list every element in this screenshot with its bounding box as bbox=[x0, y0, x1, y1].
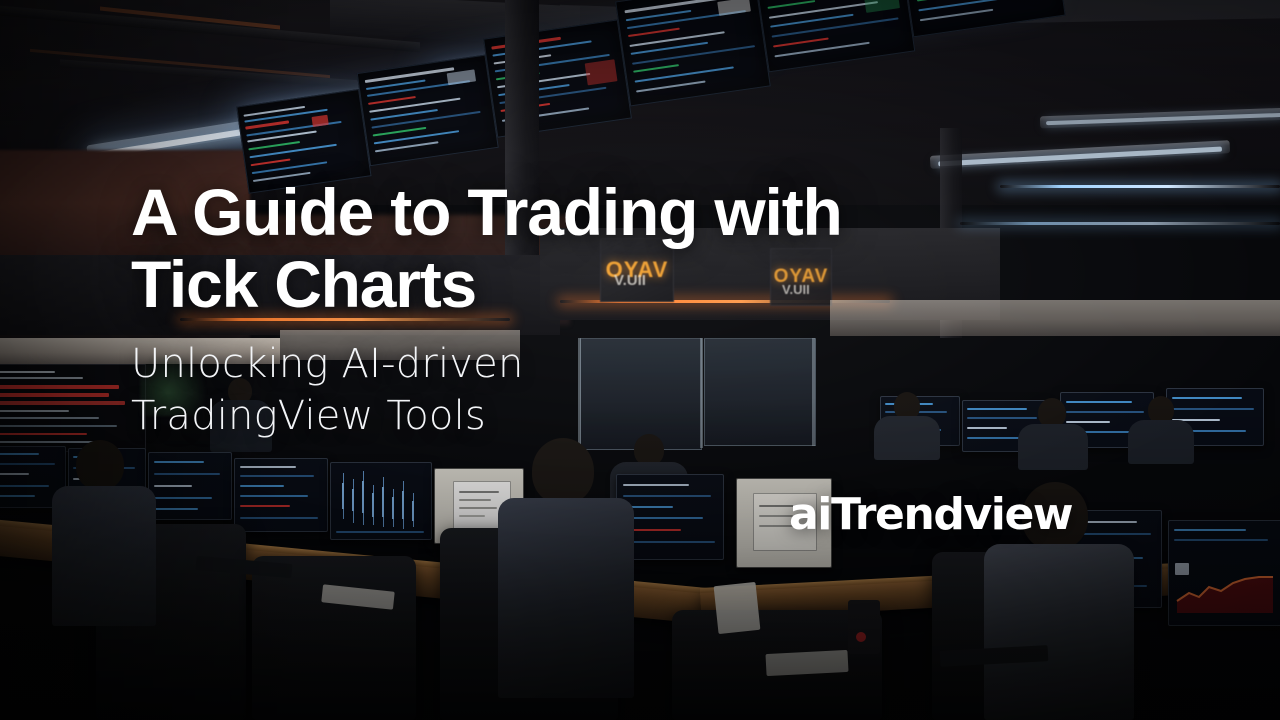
subhead-line-2: TradingView Tools bbox=[131, 390, 751, 442]
subhead-line-1: Unlocking AI-driven bbox=[131, 338, 751, 390]
banner-stage: OYAV OYAV V.UII V.UII bbox=[0, 0, 1280, 720]
brand-logo: aiTrendview bbox=[789, 492, 1072, 538]
page-title: A Guide to Trading with Tick Charts bbox=[131, 176, 991, 320]
text-overlay: A Guide to Trading with Tick Charts Unlo… bbox=[0, 0, 1280, 720]
headline-line-2: Tick Charts bbox=[131, 248, 991, 320]
page-subtitle: Unlocking AI-driven TradingView Tools bbox=[131, 338, 751, 442]
headline-line-1: A Guide to Trading with bbox=[131, 176, 991, 248]
